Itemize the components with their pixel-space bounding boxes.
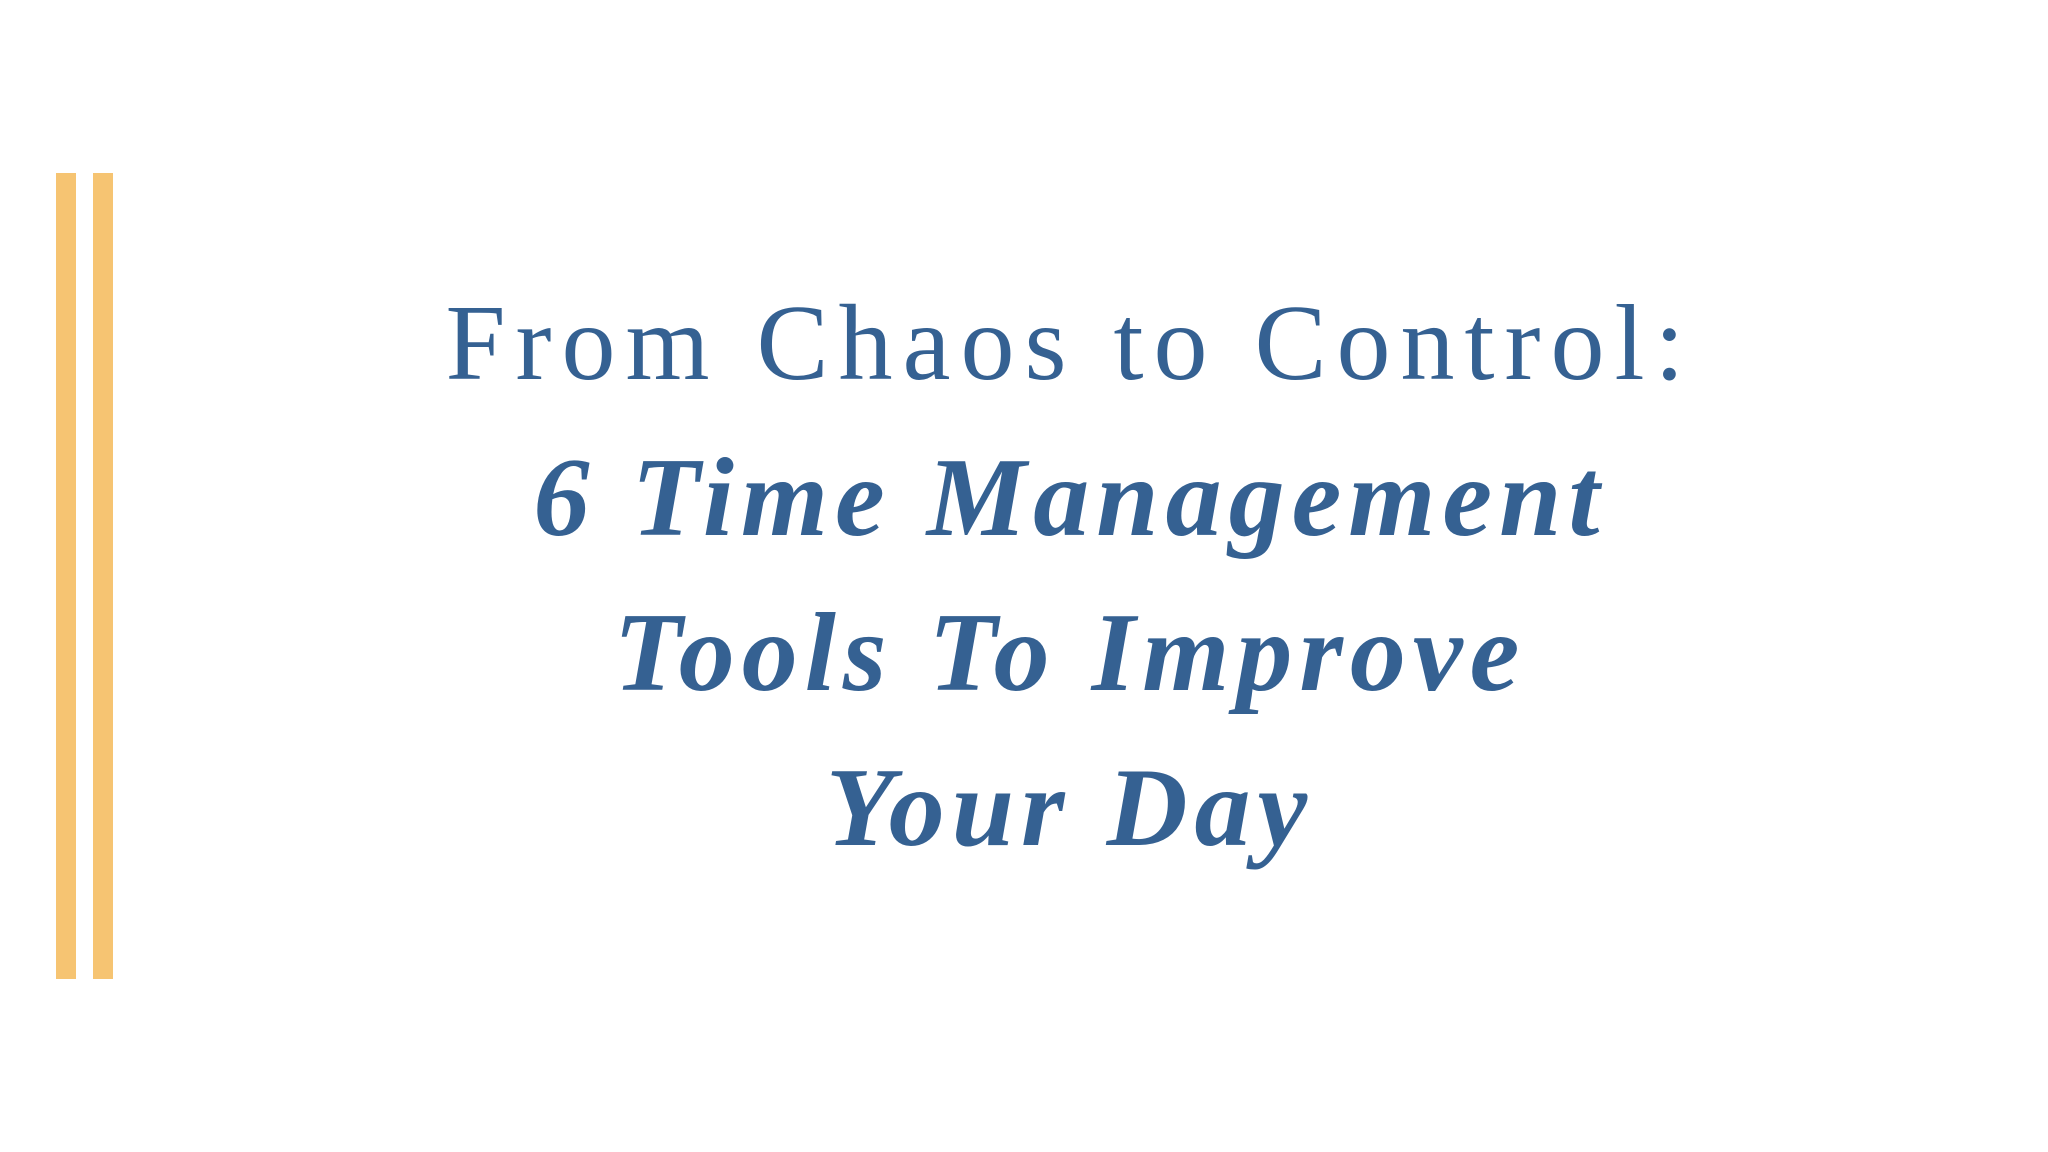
title-line-3: Tools To Improve bbox=[160, 576, 1980, 731]
accent-bar-left bbox=[56, 173, 76, 979]
title-line-2: 6 Time Management bbox=[160, 421, 1980, 576]
title-slide: From Chaos to Control: 6 Time Management… bbox=[0, 0, 2048, 1152]
decorative-double-bar bbox=[56, 173, 112, 979]
title-line-4: Your Day bbox=[160, 731, 1980, 886]
accent-bar-right bbox=[93, 173, 113, 979]
slide-title: From Chaos to Control: 6 Time Management… bbox=[160, 266, 1980, 886]
title-line-1: From Chaos to Control: bbox=[160, 266, 1980, 421]
